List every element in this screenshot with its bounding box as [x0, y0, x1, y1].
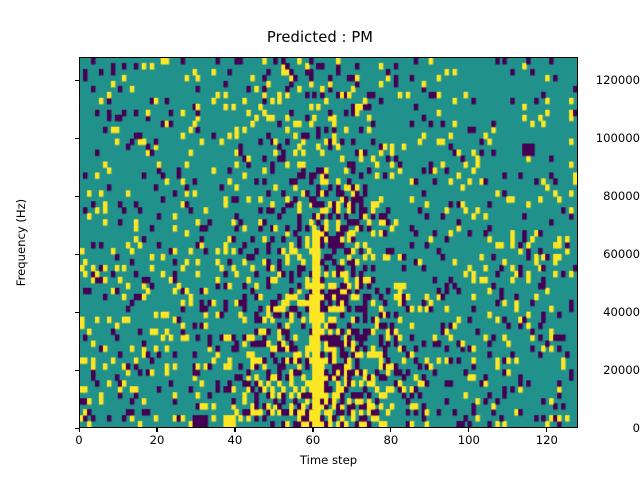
y-tick-label: 40000 — [574, 305, 640, 319]
y-tick-mark — [75, 370, 79, 371]
x-tick-mark — [546, 428, 547, 432]
y-tick-mark — [75, 196, 79, 197]
y-tick-mark — [75, 80, 79, 81]
y-tick-label: 100000 — [574, 131, 640, 145]
x-tick-mark — [234, 428, 235, 432]
x-tick-mark — [390, 428, 391, 432]
y-tick-label: 20000 — [574, 363, 640, 377]
y-tick-mark — [75, 138, 79, 139]
y-tick-label: 60000 — [574, 247, 640, 261]
y-tick-label: 120000 — [574, 73, 640, 87]
x-tick-mark — [468, 428, 469, 432]
x-tick-label: 40 — [205, 433, 265, 447]
y-tick-mark — [75, 312, 79, 313]
y-axis-label: Frequency (Hz) — [14, 57, 28, 428]
x-tick-label: 120 — [517, 433, 577, 447]
x-tick-mark — [156, 428, 157, 432]
x-tick-label: 100 — [439, 433, 499, 447]
x-tick-label: 0 — [49, 433, 109, 447]
y-tick-label: 80000 — [574, 189, 640, 203]
matplotlib-figure: Predicted : PM Frequency (Hz) Time step … — [0, 0, 640, 480]
x-tick-mark — [79, 428, 80, 432]
x-tick-label: 20 — [127, 433, 187, 447]
y-tick-mark — [75, 254, 79, 255]
x-tick-label: 80 — [361, 433, 421, 447]
x-axis-label: Time step — [79, 453, 578, 467]
x-tick-label: 60 — [283, 433, 343, 447]
heatmap-axes — [79, 57, 578, 428]
page-title: Predicted : PM — [0, 29, 640, 46]
heatmap-canvas — [80, 58, 577, 427]
x-tick-mark — [312, 428, 313, 432]
y-tick-label: 0 — [574, 421, 640, 435]
